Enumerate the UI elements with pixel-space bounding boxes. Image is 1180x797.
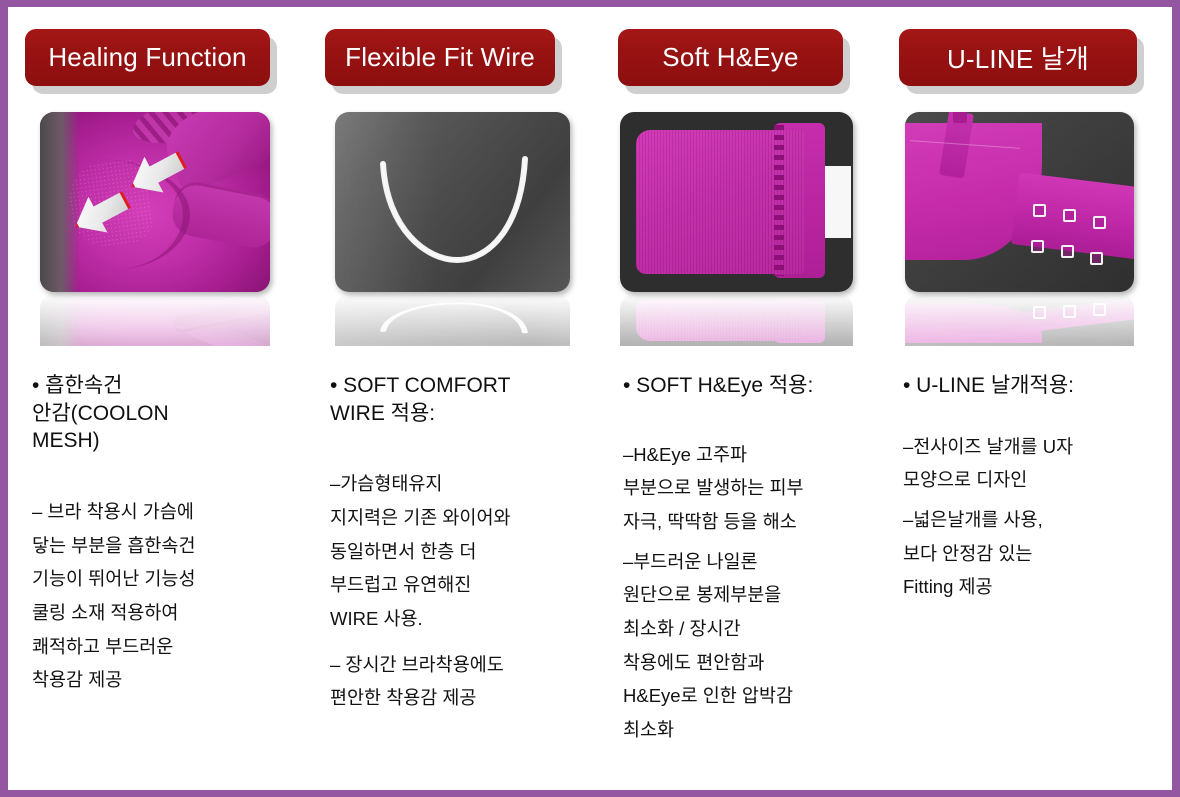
feature-paragraph-wire-1: –가슴형태유지 지지력은 기존 와이어와 동일하면서 한층 더 부드럽고 유연해…: [330, 467, 608, 635]
feature-paragraph-wire-2: – 장시간 브라착용에도 편안한 착용감 제공: [330, 648, 608, 715]
header-area-1: Healing Function: [8, 7, 308, 112]
feature-body-1: • 흡한속건 안감(COOLON MESH) – 브라 착용시 가슴에 닿는 부…: [8, 372, 308, 697]
photo-reflection-4: [905, 294, 1134, 346]
feature-paragraph-heye-1: –H&Eye 고주파 부분으로 발생하는 피부 자극, 딱딱함 등을 해소: [623, 438, 891, 539]
feature-title-pill-flexible-fit-wire[interactable]: Flexible Fit Wire: [325, 29, 555, 86]
bra-interior-cooling-mesh-photo: [40, 112, 270, 292]
header-area-2: Flexible Fit Wire: [308, 7, 608, 112]
u-shaped-wire-shape: [335, 112, 570, 292]
reflection-hook-3: [1093, 303, 1106, 316]
photo-reflection-1: [40, 294, 270, 346]
hook-eye-icon-5: [1061, 245, 1074, 258]
feature-column-flexible-fit-wire: Flexible Fit Wire: [308, 7, 608, 790]
soft-comfort-wire-photo: [335, 112, 570, 292]
u-line-bra-wing-hook-photo: [905, 112, 1134, 292]
feature-paragraph-heye-2: –부드러운 나일론 원단으로 봉제부분을 최소화 / 장시간 착용에도 편안함과…: [623, 545, 891, 747]
feature-lead-flexible-fit-wire: • SOFT COMFORT WIRE 적용:: [330, 372, 608, 427]
reflection-panel-3: [636, 299, 804, 341]
soft-hook-and-eye-fabric-photo: [620, 112, 853, 292]
photo-reflection-3: [620, 294, 853, 346]
feature-lead-soft-h-and-eye: • SOFT H&Eye 적용:: [623, 372, 891, 400]
feature-photo-flexible-fit-wire: [335, 112, 570, 292]
feature-column-healing-function: Healing Function: [8, 7, 308, 790]
feature-lead-u-line-wing: • U-LINE 날개적용:: [903, 372, 1174, 400]
photo-area-1: [8, 112, 308, 372]
fabric-stitching: [774, 125, 784, 276]
photo-area-2: [308, 112, 608, 372]
feature-photo-soft-h-and-eye: [620, 112, 853, 292]
feature-columns: Healing Function: [8, 7, 1172, 790]
feature-photo-u-line-wing: [905, 112, 1134, 292]
feature-photo-healing-function: [40, 112, 270, 292]
feature-paragraph-healing-1: – 브라 착용시 가슴에 닿는 부분을 흡한속건 기능이 뛰어난 기능성 쿨링 …: [32, 495, 308, 697]
photo-reflection-scene-3: [620, 294, 853, 346]
feature-paragraph-wing-2: –넓은날개를 사용, 보다 안정감 있는 Fitting 제공: [903, 503, 1174, 604]
fabric-white-tag: [825, 166, 851, 238]
feature-body-3: • SOFT H&Eye 적용: –H&Eye 고주파 부분으로 발생하는 피부…: [608, 372, 891, 747]
feature-body-2: • SOFT COMFORT WIRE 적용: –가슴형태유지 지지력은 기존 …: [308, 372, 608, 715]
photo-reflection-scene-1: [40, 294, 270, 346]
reflection-hook-1: [1033, 306, 1046, 319]
reflection-wire-shape: [335, 294, 570, 346]
photo-reflection-2: [335, 294, 570, 346]
photo-area-4: [891, 112, 1174, 372]
feature-title-pill-soft-h-and-eye[interactable]: Soft H&Eye: [618, 29, 843, 86]
feature-column-u-line-wing: U-LINE 날개: [891, 7, 1174, 790]
photo-area-3: [608, 112, 891, 372]
header-area-3: Soft H&Eye: [608, 7, 891, 112]
reflection-shadow-1: [40, 294, 79, 346]
feature-lead-healing-function: • 흡한속건 안감(COOLON MESH): [32, 372, 308, 455]
photo-reflection-scene-2: [335, 294, 570, 346]
feature-title-pill-healing-function[interactable]: Healing Function: [25, 29, 270, 86]
feature-title-pill-u-line-wing[interactable]: U-LINE 날개: [899, 29, 1137, 86]
feature-column-soft-h-and-eye: Soft H&Eye: [608, 7, 891, 790]
reflection-hook-2: [1063, 305, 1076, 318]
header-area-4: U-LINE 날개: [891, 7, 1174, 112]
hook-eye-icon-4: [1031, 240, 1044, 253]
feature-body-4: • U-LINE 날개적용: –전사이즈 날개를 U자 모양으로 디자인 –넓은…: [891, 372, 1174, 604]
hook-eye-icon-2: [1063, 209, 1076, 222]
feature-paragraph-wing-1: –전사이즈 날개를 U자 모양으로 디자인: [903, 430, 1174, 497]
hook-eye-icon-3: [1093, 216, 1106, 229]
bra-strap-clip: [953, 112, 967, 123]
photo-reflection-scene-4: [905, 294, 1134, 346]
hook-eye-icon-1: [1033, 204, 1046, 217]
hook-eye-icon-6: [1090, 252, 1103, 265]
product-feature-poster: Healing Function: [0, 0, 1180, 797]
